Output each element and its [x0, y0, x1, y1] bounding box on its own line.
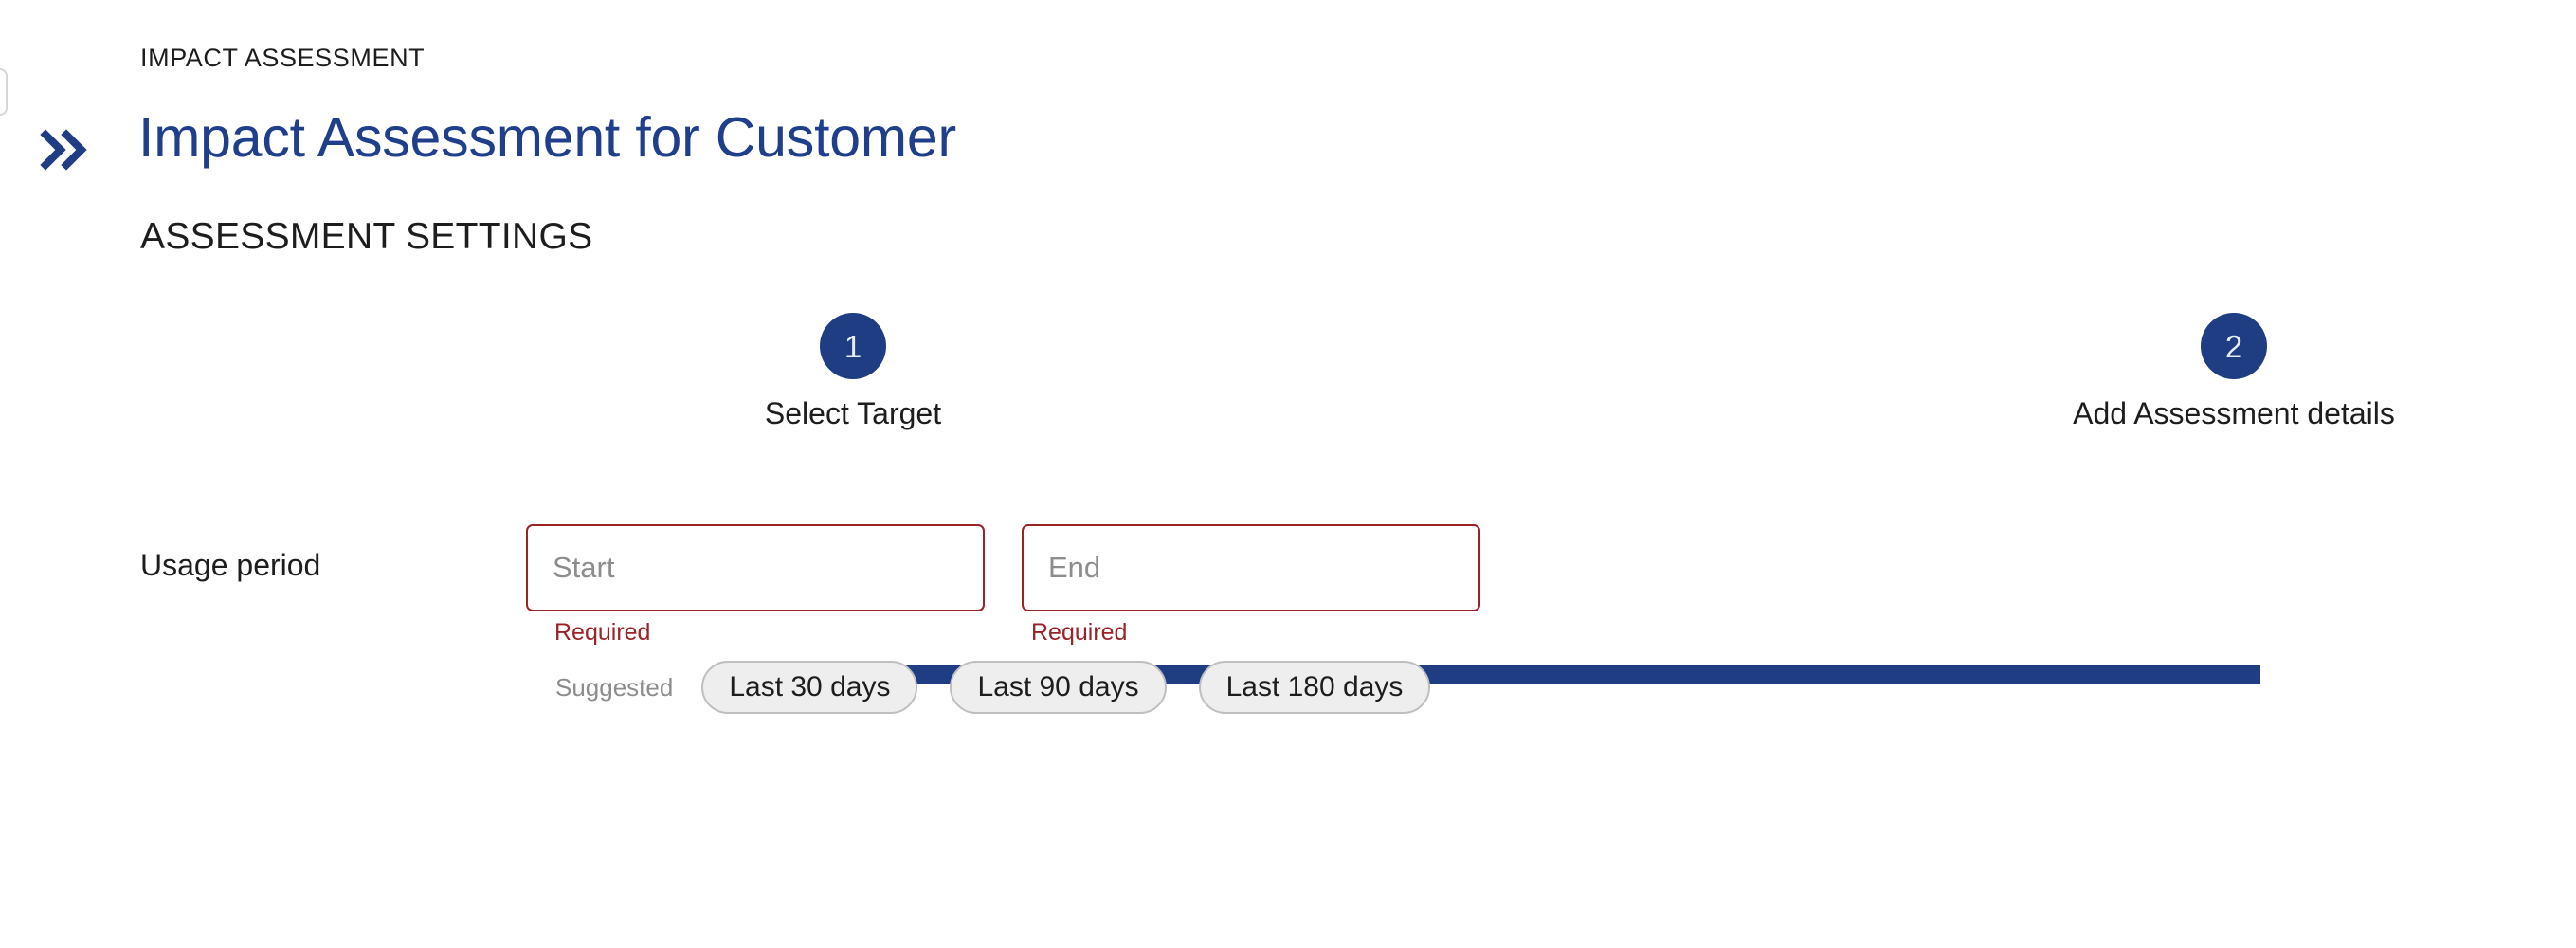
assessment-stepper: 1 Select Target 2 Add Assessment details [0, 313, 2576, 446]
step-label: Select Target [765, 396, 941, 431]
suggestion-chip-last-30-days[interactable]: Last 30 days [701, 661, 917, 714]
step-label: Add Assessment details [2073, 396, 2395, 431]
breadcrumb-eyebrow: IMPACT ASSESSMENT [140, 44, 425, 73]
double-chevron-right-icon [40, 129, 89, 171]
collapsed-panel-edge [0, 68, 8, 116]
stepper-step-add-assessment-details[interactable]: 2 Add Assessment details [2044, 313, 2423, 431]
expand-sidebar-button[interactable] [34, 119, 95, 180]
usage-period-start-input[interactable] [526, 524, 985, 611]
suggested-ranges-row: Suggested Last 30 days Last 90 days Last… [555, 661, 1430, 714]
step-number-badge: 2 [2201, 313, 2267, 379]
suggestion-chip-last-90-days[interactable]: Last 90 days [950, 661, 1166, 714]
suggested-label: Suggested [555, 673, 673, 702]
suggestion-chip-last-180-days[interactable]: Last 180 days [1199, 661, 1431, 714]
impact-assessment-page: IMPACT ASSESSMENT Impact Assessment for … [0, 0, 2576, 948]
usage-period-end-error: Required [1031, 619, 1127, 647]
stepper-step-select-target[interactable]: 1 Select Target [663, 313, 1043, 431]
page-title: Impact Assessment for Customer [138, 106, 956, 171]
usage-period-start-error: Required [554, 619, 650, 647]
usage-period-label: Usage period [140, 548, 320, 583]
step-number-badge: 1 [820, 313, 886, 379]
usage-period-end-input[interactable] [1022, 524, 1480, 611]
section-title: ASSESSMENT SETTINGS [140, 216, 592, 258]
